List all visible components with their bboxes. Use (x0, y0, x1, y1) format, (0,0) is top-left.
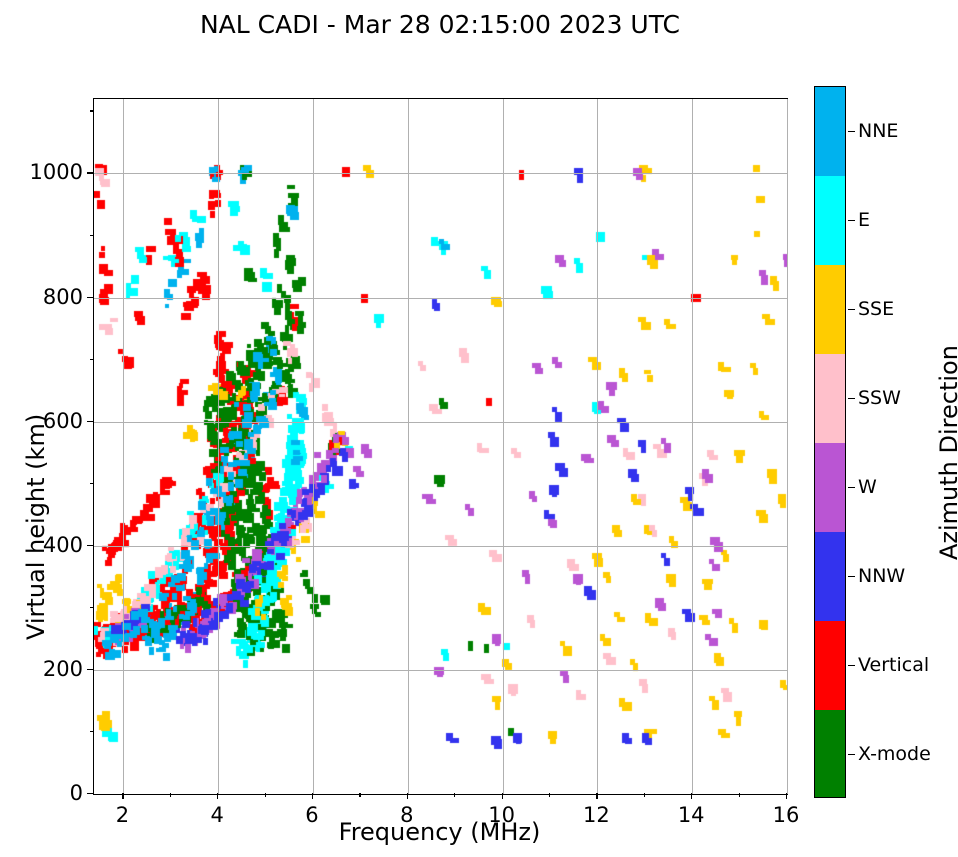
colorbar-tick (848, 754, 855, 755)
y-tick-minor (90, 110, 94, 111)
x-tick-mark (217, 793, 218, 799)
y-tick-minor (90, 359, 94, 360)
colorbar-tick (848, 309, 855, 310)
x-tick-minor (644, 793, 645, 797)
x-tick-mark (122, 793, 123, 799)
colorbar-segment-w (815, 443, 845, 532)
colorbar-label-sse: SSE (858, 298, 894, 320)
colorbar-segment-nnw (815, 532, 845, 621)
colorbar-segment-sse (815, 265, 845, 354)
y-tick-minor (90, 483, 94, 484)
x-tick-mark (502, 793, 503, 799)
x-tick-minor (170, 793, 171, 797)
colorbar-tick (848, 220, 855, 221)
x-tick-mark (691, 793, 692, 799)
colorbar-segment-vertical (815, 621, 845, 710)
y-tick-mark (87, 669, 93, 670)
colorbar-segment-ssw (815, 354, 845, 443)
x-tick-mark (312, 793, 313, 799)
colorbar-tick (848, 576, 855, 577)
colorbar-label-ssw: SSW (858, 387, 901, 409)
colorbar (814, 86, 846, 798)
x-axis-label: Frequency (MHz) (93, 818, 786, 846)
y-tick-label: 1000 (15, 160, 83, 184)
y-tick-mark (87, 297, 93, 298)
colorbar-tick (848, 665, 855, 666)
y-axis-label: Virtual height (km) (22, 414, 50, 640)
colorbar-label-nne: NNE (858, 120, 898, 142)
colorbar-label-w: W (858, 476, 877, 498)
colorbar-segment-e (815, 176, 845, 265)
colorbar-label-vertical: Vertical (858, 654, 929, 676)
x-tick-mark (596, 793, 597, 799)
y-tick-mark (87, 793, 93, 794)
figure-title: NAL CADI - Mar 28 02:15:00 2023 UTC (0, 10, 880, 39)
y-tick-label: 800 (15, 285, 83, 309)
x-tick-minor (549, 793, 550, 797)
colorbar-tick (848, 398, 855, 399)
y-tick-minor (90, 235, 94, 236)
colorbar-label-nnw: NNW (858, 565, 905, 587)
y-axis-ticks: 02004006008001000 (93, 98, 786, 793)
x-tick-minor (265, 793, 266, 797)
colorbar-label-x-mode: X-mode (858, 743, 931, 765)
x-tick-minor (739, 793, 740, 797)
x-tick-mark (407, 793, 408, 799)
colorbar-label-e: E (858, 209, 870, 231)
colorbar-tick (848, 487, 855, 488)
y-tick-mark (87, 172, 93, 173)
x-tick-minor (454, 793, 455, 797)
x-tick-mark (786, 793, 787, 799)
colorbar-segment-x-mode (815, 710, 845, 798)
y-tick-minor (90, 731, 94, 732)
x-tick-minor (359, 793, 360, 797)
colorbar-segment-nne (815, 87, 845, 176)
colorbar-axis-label: Azimuth Direction (935, 345, 958, 560)
y-tick-mark (87, 421, 93, 422)
gridline-vertical (787, 99, 788, 794)
y-tick-label: 200 (15, 657, 83, 681)
y-tick-minor (90, 607, 94, 608)
ionogram-figure: NAL CADI - Mar 28 02:15:00 2023 UTC 2468… (0, 0, 958, 857)
y-tick-mark (87, 545, 93, 546)
colorbar-tick (848, 131, 855, 132)
y-tick-label: 0 (15, 781, 83, 805)
